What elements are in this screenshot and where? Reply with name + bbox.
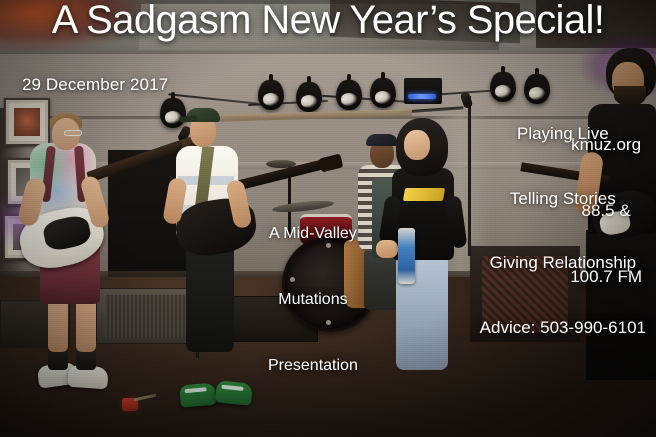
presenter-block: A Mid-Valley Mutations Presentation — [268, 179, 358, 421]
info-line-giving-relationship: Giving Relationship — [480, 252, 646, 274]
event-date: 29 December 2017 — [22, 75, 168, 95]
presenter-line-3: Presentation — [268, 355, 358, 377]
gig-poster: A Sadgasm New Year’s Special! 29 Decembe… — [0, 0, 656, 437]
info-line-playing-live: Playing Live — [480, 123, 646, 145]
poster-title: A Sadgasm New Year’s Special! — [52, 0, 605, 43]
show-info-block: Playing Live Telling Stories Giving Rela… — [480, 80, 646, 381]
info-line-advice-phone: Advice: 503-990-6101 — [480, 317, 646, 339]
presenter-line-1: A Mid-Valley — [268, 223, 358, 245]
text-overlay: A Sadgasm New Year’s Special! 29 Decembe… — [0, 0, 656, 437]
info-line-telling-stories: Telling Stories — [480, 188, 646, 210]
presenter-line-2: Mutations — [268, 289, 358, 311]
